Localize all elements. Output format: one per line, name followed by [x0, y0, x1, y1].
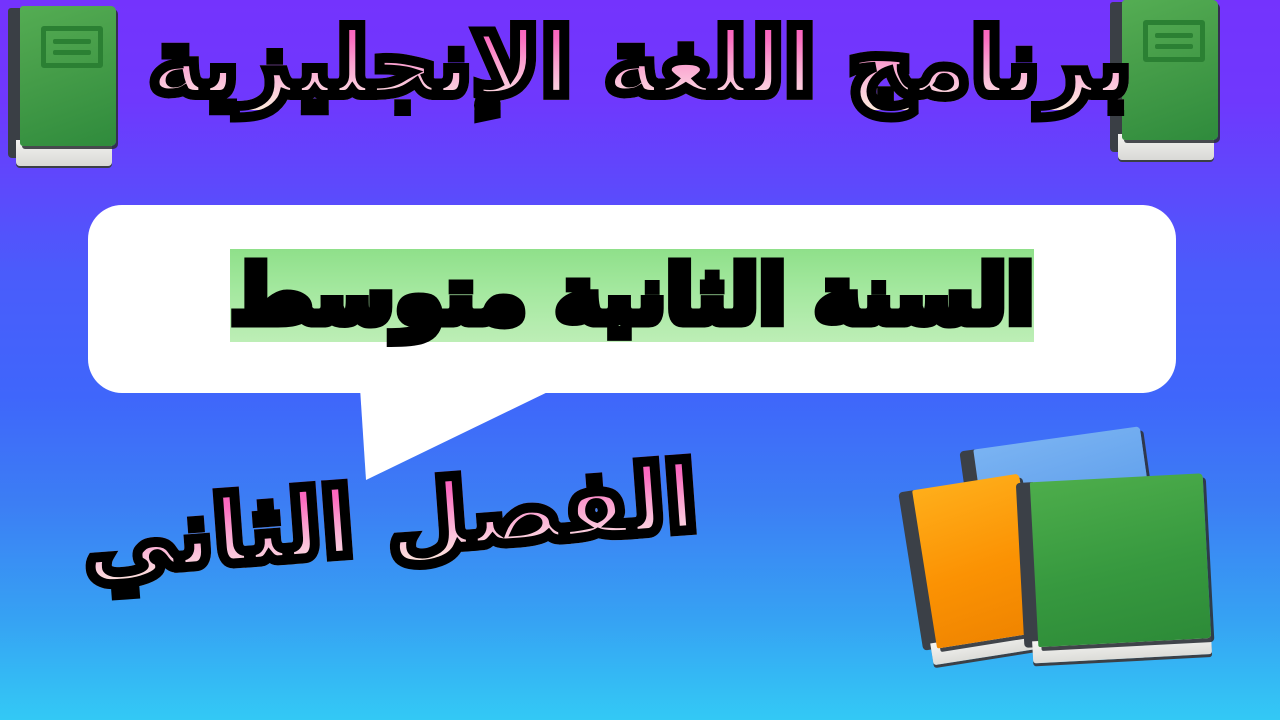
footer-title: الفصل الثاني	[18, 447, 763, 595]
thumbnail-canvas: برنامج اللغة الإنجليزية السنة الثانية مت…	[0, 0, 1280, 720]
books-stack-icon	[900, 420, 1220, 695]
speech-bubble-text-wrap: السنة الثانية متوسط	[230, 256, 1034, 342]
speech-bubble: السنة الثانية متوسط	[88, 205, 1176, 393]
speech-bubble-text: السنة الثانية متوسط	[230, 249, 1034, 342]
footer-title-text: الفصل الثاني	[79, 452, 700, 591]
book-green	[1018, 473, 1211, 647]
book-cover	[1030, 473, 1211, 647]
page-title-text: برنامج اللغة الإنجليزية	[148, 18, 1131, 110]
page-title: برنامج اللغة الإنجليزية	[0, 18, 1280, 110]
